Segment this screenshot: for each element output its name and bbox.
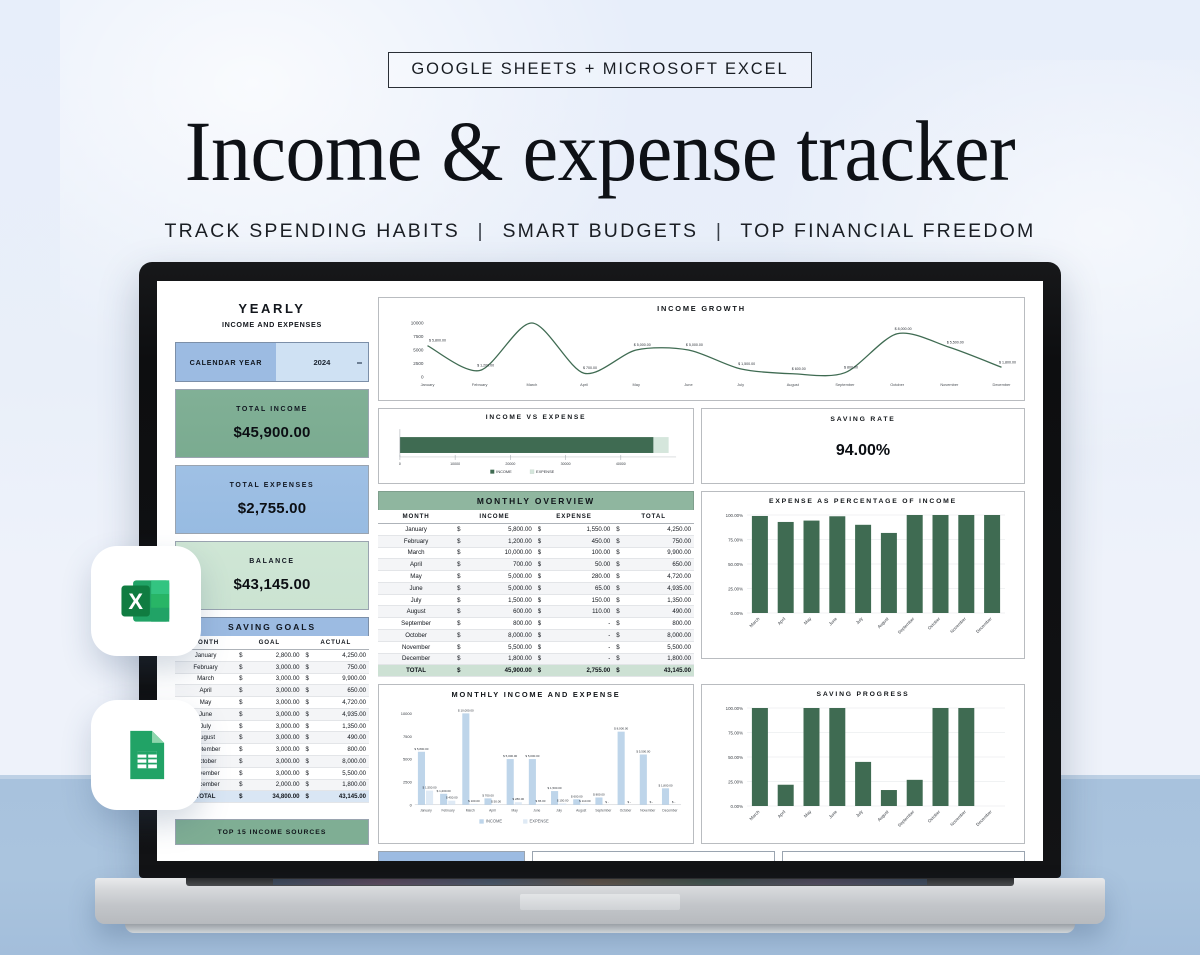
table-cell: $ — [236, 697, 244, 709]
kpi-total-income-value: $45,900.00 — [233, 424, 310, 441]
table-row: August$3,000.00$490.00 — [175, 732, 369, 744]
chart-text: January — [420, 809, 432, 813]
chart-income-vs-expense: INCOME VS EXPENSE 010000200003000040000I… — [378, 408, 694, 484]
chart-text: August — [876, 616, 890, 630]
table-row: February$1,200.00$450.00$750.00 — [378, 535, 694, 547]
panel-monthly-overview: MONTHLY OVERVIEW MONTH INCOME EXPENSE TO… — [378, 491, 694, 677]
bar-income — [640, 755, 647, 805]
chart-text: May — [512, 809, 519, 813]
table-cell: $ — [303, 650, 311, 662]
table-cell: $ — [535, 606, 543, 618]
bar — [829, 708, 845, 806]
bar — [752, 708, 768, 806]
table-cell: 4,720.00 — [622, 571, 694, 583]
table-row: June$3,000.00$4,935.00 — [175, 708, 369, 720]
chart-text: $ 8,000.00 — [895, 327, 912, 331]
table-cell: $ — [303, 756, 311, 768]
table-header-row: MONTH GOAL ACTUAL — [175, 636, 369, 650]
chart-text: June — [828, 809, 839, 820]
table-cell: 1,800.00 — [311, 779, 369, 791]
table-cell: 5,000.00 — [463, 571, 535, 583]
saving-progress-plot: 0.00%25.00%50.00%75.00%100.00%MarchApril… — [710, 698, 1016, 838]
chart-text: 10000 — [401, 711, 413, 716]
col-actual: ACTUAL — [303, 636, 369, 650]
chart-text: May — [803, 616, 813, 626]
table-cell: July — [378, 594, 454, 606]
bar — [907, 780, 923, 806]
chart-text: $ 8,000.00 — [614, 727, 628, 731]
table-cell: $ — [236, 744, 244, 756]
table-cell: 8,000.00 — [311, 756, 369, 768]
table-cell: April — [378, 559, 454, 571]
table-cell: 3,000.00 — [244, 661, 302, 673]
table-cell: $ — [236, 779, 244, 791]
chart-monthly-income-expense: MONTHLY INCOME AND EXPENSE 0250050007500… — [378, 684, 694, 844]
subtitle-separator-1: | — [468, 220, 495, 242]
table-row: July$1,500.00$150.00$1,350.00 — [378, 594, 694, 606]
chart-text: 0 — [399, 462, 401, 466]
table-cell: $ — [613, 618, 621, 630]
monthly-overview-body: January$5,800.00$1,550.00$4,250.00Februa… — [378, 524, 694, 677]
bar-income — [462, 714, 469, 805]
chart-text: 40000 — [616, 462, 626, 466]
table-cell: $ — [535, 559, 543, 571]
chart-text: $ 5,800.00 — [414, 747, 428, 751]
chart-text: 0 — [410, 803, 413, 808]
bar-expense — [448, 801, 455, 805]
bar-income — [595, 798, 602, 805]
chart-text: $ 150.00 — [557, 799, 569, 803]
table-total-row: TOTAL$45,900.00$2,755.00$43,145.00 — [378, 665, 694, 677]
saving-rate-value: 94.00% — [836, 442, 890, 460]
dashboard-row-1: INCOME GROWTH 025005000750010000JanuaryF… — [378, 297, 1025, 401]
table-cell: December — [378, 653, 454, 665]
table-cell: $ — [454, 641, 462, 653]
table-cell: 4,935.00 — [622, 582, 694, 594]
chart-text: 7500 — [413, 334, 424, 339]
table-cell: 2,800.00 — [244, 650, 302, 662]
table-cell: 65.00 — [543, 582, 613, 594]
bar-income — [662, 788, 669, 804]
table-cell: $ — [303, 767, 311, 779]
chart-text: 30000 — [561, 462, 571, 466]
table-cell: 1,550.00 — [543, 524, 613, 536]
table-cell: $ — [303, 791, 311, 803]
table-cell: 5,000.00 — [463, 582, 535, 594]
yearly-subtitle: INCOME AND EXPENSES — [175, 320, 369, 329]
chart-text: $ 600.00 — [792, 367, 806, 371]
table-cell: $ — [613, 653, 621, 665]
chart-text: $ 1,500.00 — [548, 786, 562, 790]
chart-expense-percentage-title: EXPENSE AS PERCENTAGE OF INCOME — [710, 498, 1016, 505]
calendar-year-text: 2024 — [313, 358, 330, 367]
chart-text: $ - — [672, 800, 675, 804]
table-cell: April — [175, 685, 236, 697]
chart-text: 0.00% — [731, 611, 744, 616]
bar-expense — [581, 804, 588, 805]
chart-text: December — [662, 809, 678, 813]
chart-text: March — [748, 616, 761, 629]
chart-text: $ - — [627, 800, 630, 804]
table-cell: $ — [535, 665, 543, 677]
bar — [804, 521, 820, 613]
yearly-title: YEARLY — [175, 297, 369, 316]
chart-text: November — [949, 809, 967, 827]
chart-text: December — [993, 382, 1012, 387]
col-month: MONTH — [378, 510, 454, 524]
bar — [829, 516, 845, 613]
chart-text: $ 5,000.00 — [503, 754, 517, 758]
table-cell: March — [378, 547, 454, 559]
kpi-total-income-label: TOTAL INCOME — [236, 406, 308, 413]
table-row: January$5,800.00$1,550.00$4,250.00 — [378, 524, 694, 536]
table-cell: 1,200.00 — [463, 535, 535, 547]
table-cell: 490.00 — [622, 606, 694, 618]
chart-text: July — [556, 809, 562, 813]
chart-text: April — [489, 809, 496, 813]
chart-text: April — [777, 809, 787, 819]
laptop-screen: YEARLY INCOME AND EXPENSES CALENDAR YEAR… — [157, 281, 1043, 861]
table-cell: 4,720.00 — [311, 697, 369, 709]
tab-income-breakdown[interactable]: INCOME BREAKDOWN — [532, 851, 775, 861]
table-cell: $ — [454, 571, 462, 583]
chart-text: September — [897, 616, 916, 635]
table-cell: $ — [236, 685, 244, 697]
expense-percentage-plot: 0.00%25.00%50.00%75.00%100.00%MarchApril… — [710, 505, 1016, 653]
chart-text: EXPENSE — [536, 469, 555, 474]
table-row: October$8,000.00$-$8,000.00 — [378, 630, 694, 642]
table-cell: 490.00 — [311, 732, 369, 744]
table-cell: $ — [303, 697, 311, 709]
chart-expense-percentage: EXPENSE AS PERCENTAGE OF INCOME 0.00%25.… — [701, 491, 1025, 659]
microsoft-excel-icon[interactable]: X — [91, 546, 201, 656]
table-cell: 45,900.00 — [463, 665, 535, 677]
laptop-keyboard-shadow — [186, 878, 1014, 886]
table-cell: 3,000.00 — [244, 708, 302, 720]
table-header-row: MONTH INCOME EXPENSE TOTAL — [378, 510, 694, 524]
table-cell: 4,935.00 — [311, 708, 369, 720]
table-cell: $ — [454, 653, 462, 665]
chart-text: December — [975, 809, 993, 827]
chart-text: $ 10,000.00 — [458, 709, 474, 713]
chart-text: June — [828, 616, 839, 627]
chart-text: April — [777, 616, 787, 626]
legend-swatch-expense — [523, 819, 527, 823]
tab-top-15-income-sources-label: TOP 15 INCOME SOURCES — [218, 829, 327, 836]
chart-text: $ 700.00 — [482, 794, 494, 798]
table-cell: 1,500.00 — [463, 594, 535, 606]
laptop-lid: YEARLY INCOME AND EXPENSES CALENDAR YEAR… — [139, 262, 1061, 878]
table-row: May$3,000.00$4,720.00 — [175, 697, 369, 709]
chart-text: 25.00% — [728, 779, 743, 784]
chart-text: 50.00% — [728, 755, 743, 760]
table-cell: $ — [535, 535, 543, 547]
chart-text: $ - — [605, 800, 608, 804]
table-cell: - — [543, 653, 613, 665]
table-row: November$5,500.00$-$5,500.00 — [378, 641, 694, 653]
tab-top-15-expense-sources[interactable]: TOP 15 EXPENSE SOURCES — [378, 851, 525, 861]
table-cell: January — [378, 524, 454, 536]
col-expense: EXPENSE — [535, 510, 613, 524]
bar — [778, 522, 794, 613]
yearly-heading-block: YEARLY INCOME AND EXPENSES — [175, 297, 369, 335]
dashboard-row-2: INCOME VS EXPENSE 010000200003000040000I… — [378, 408, 1025, 484]
bar-income — [400, 437, 654, 453]
chart-text: $ 800.00 — [844, 366, 858, 370]
table-cell: 800.00 — [463, 618, 535, 630]
chart-text: December — [975, 616, 993, 634]
table-cell: $ — [454, 547, 462, 559]
dashboard-row-4: MONTHLY INCOME AND EXPENSE 0250050007500… — [378, 684, 1025, 844]
calendar-year-selector[interactable]: CALENDAR YEAR 2024 — [175, 342, 369, 382]
kpi-total-expenses-value: $2,755.00 — [238, 500, 307, 517]
table-cell: $ — [454, 535, 462, 547]
table-cell: 280.00 — [543, 571, 613, 583]
chart-text: February — [472, 382, 488, 387]
bar — [752, 516, 768, 613]
chart-text: 5000 — [403, 757, 413, 762]
calendar-year-value[interactable]: 2024 — [276, 343, 368, 381]
chart-text: August — [787, 382, 800, 387]
bar-expense — [653, 437, 668, 453]
table-cell: $ — [613, 594, 621, 606]
bar — [984, 515, 1000, 613]
chart-text: June — [684, 382, 692, 387]
table-row: September$3,000.00$800.00 — [175, 744, 369, 756]
table-cell: $ — [535, 524, 543, 536]
bar-income — [618, 732, 625, 805]
table-cell: $ — [535, 547, 543, 559]
table-cell: $ — [236, 767, 244, 779]
dashboard-right-column: INCOME GROWTH 025005000750010000JanuaryF… — [378, 297, 1025, 845]
dashboard-row-3: MONTHLY OVERVIEW MONTH INCOME EXPENSE TO… — [378, 491, 1025, 677]
chart-text: March — [748, 809, 761, 822]
tab-expense-breakdown[interactable]: EXPENSE BREAKDOWN — [782, 851, 1025, 861]
table-cell: 150.00 — [543, 594, 613, 606]
col-goal: GOAL — [236, 636, 302, 650]
chart-text: 10000 — [411, 321, 424, 326]
chart-text: INCOME — [496, 469, 512, 474]
table-cell: $ — [454, 618, 462, 630]
subtitle-part-3: TOP FINANCIAL FREEDOM — [740, 220, 1035, 242]
table-cell: $ — [613, 641, 621, 653]
chart-text: $ 5,500.00 — [947, 340, 964, 344]
chart-text: EXPENSE — [530, 819, 549, 824]
chart-text: November — [640, 809, 656, 813]
table-cell: 800.00 — [622, 618, 694, 630]
monthly-overview-title: MONTHLY OVERVIEW — [378, 491, 694, 510]
table-cell: $ — [613, 630, 621, 642]
table-cell: $ — [454, 606, 462, 618]
chart-text: $ 800.00 — [593, 793, 605, 797]
table-row: July$3,000.00$1,350.00 — [175, 720, 369, 732]
chart-text: August — [576, 809, 586, 813]
bar-expense — [559, 804, 566, 805]
table-cell: 2,000.00 — [244, 779, 302, 791]
bar — [855, 525, 871, 613]
table-cell: August — [378, 606, 454, 618]
kpi-balance-label: BALANCE — [249, 558, 294, 565]
chart-text: $ 5,000.00 — [686, 343, 703, 347]
kpi-total-expenses: TOTAL EXPENSES $2,755.00 — [175, 465, 369, 534]
table-row: December$2,000.00$1,800.00 — [175, 779, 369, 791]
bar-income — [418, 752, 425, 805]
table-cell: February — [175, 661, 236, 673]
saving-goals-body: January$2,800.00$4,250.00February$3,000.… — [175, 650, 369, 803]
card-saving-rate: SAVING RATE 94.00% — [701, 408, 1025, 484]
saving-goals-title: SAVING GOALS — [175, 617, 369, 636]
bar-income — [529, 759, 536, 805]
table-cell: 4,250.00 — [311, 650, 369, 662]
table-cell: $ — [613, 571, 621, 583]
table-cell: $ — [454, 630, 462, 642]
laptop-base — [95, 878, 1105, 924]
table-cell: 5,500.00 — [463, 641, 535, 653]
table-cell: $ — [236, 720, 244, 732]
chevron-down-icon — [357, 362, 362, 364]
table-cell: 50.00 — [543, 559, 613, 571]
table-cell: 3,000.00 — [244, 673, 302, 685]
legend-swatch-income — [490, 470, 494, 474]
table-cell: 4,250.00 — [622, 524, 694, 536]
chart-text: 75.00% — [728, 730, 743, 735]
income-growth-line — [428, 323, 1002, 376]
bar — [933, 708, 949, 806]
chart-text: $ 5,800.00 — [429, 339, 446, 343]
table-cell: 5,500.00 — [622, 641, 694, 653]
table-row: August$600.00$110.00$490.00 — [378, 606, 694, 618]
excel-glyph: X — [115, 570, 177, 632]
chart-income-growth: INCOME GROWTH 025005000750010000JanuaryF… — [378, 297, 1025, 401]
col-total: TOTAL — [613, 510, 694, 524]
svg-text:X: X — [128, 589, 143, 614]
chart-text: March — [526, 382, 537, 387]
laptop-mockup: YEARLY INCOME AND EXPENSES CALENDAR YEAR… — [139, 262, 1061, 924]
table-cell: $ — [236, 661, 244, 673]
calendar-year-label: CALENDAR YEAR — [176, 343, 276, 381]
chart-saving-progress: SAVING PROGRESS 0.00%25.00%50.00%75.00%1… — [701, 684, 1025, 844]
table-cell: 110.00 — [543, 606, 613, 618]
table-cell: 650.00 — [622, 559, 694, 571]
chart-text: September — [595, 809, 612, 813]
bar-expense — [426, 791, 433, 805]
chart-text: 0.00% — [731, 804, 744, 809]
subtitle-separator-2: | — [706, 220, 733, 242]
table-row: December$1,800.00$-$1,800.00 — [378, 653, 694, 665]
chart-text: February — [442, 809, 455, 813]
bar — [881, 533, 897, 613]
table-cell: $ — [303, 661, 311, 673]
monthly-overview-table: MONTH INCOME EXPENSE TOTAL January$5,800… — [378, 510, 694, 677]
table-cell: $ — [303, 779, 311, 791]
chart-text: July — [855, 616, 865, 626]
table-cell: $ — [303, 685, 311, 697]
chart-text: May — [803, 809, 813, 819]
table-cell: 2,755.00 — [543, 665, 613, 677]
table-cell: 800.00 — [311, 744, 369, 756]
table-cell: 5,500.00 — [311, 767, 369, 779]
table-row: June$5,000.00$65.00$4,935.00 — [378, 582, 694, 594]
chart-text: 25.00% — [728, 586, 743, 591]
table-cell: $ — [303, 708, 311, 720]
table-cell: $ — [236, 708, 244, 720]
table-cell: 9,900.00 — [622, 547, 694, 559]
chart-text: 50.00% — [728, 562, 743, 567]
table-cell: 450.00 — [543, 535, 613, 547]
bar — [855, 762, 871, 806]
platform-badge: GOOGLE SHEETS + MICROSOFT EXCEL — [388, 52, 811, 88]
laptop-trackpad — [520, 894, 680, 910]
table-cell: $ — [613, 582, 621, 594]
monthly-income-expense-plot: 025005000750010000$ 5,800.00$ 1,200.00$ … — [385, 699, 687, 841]
dashboard-row-5: TOP 15 EXPENSE SOURCES INCOME BREAKDOWN … — [378, 851, 1025, 861]
table-row: February$3,000.00$750.00 — [175, 661, 369, 673]
table-cell: TOTAL — [378, 665, 454, 677]
table-cell: 1,350.00 — [622, 594, 694, 606]
table-cell: May — [378, 571, 454, 583]
table-cell: 8,000.00 — [622, 630, 694, 642]
chart-text: October — [620, 809, 633, 813]
table-row: November$3,000.00$5,500.00 — [175, 767, 369, 779]
kpi-balance-value: $43,145.00 — [233, 576, 310, 593]
table-cell: 9,900.00 — [311, 673, 369, 685]
chart-text: October — [927, 616, 942, 631]
chart-text: $ 450.00 — [446, 796, 458, 800]
table-cell: $ — [303, 720, 311, 732]
table-cell: $ — [535, 594, 543, 606]
chart-text: $ 1,500.00 — [738, 362, 755, 366]
legend-swatch-expense — [530, 470, 534, 474]
bar — [958, 708, 974, 806]
chart-text: 2500 — [413, 361, 424, 366]
google-sheets-icon[interactable] — [91, 700, 201, 810]
table-cell: 700.00 — [463, 559, 535, 571]
table-cell: 100.00 — [543, 547, 613, 559]
col-income: INCOME — [454, 510, 535, 524]
page-title: Income & expense tracker — [42, 108, 1158, 194]
tab-top-15-income-sources[interactable]: TOP 15 INCOME SOURCES — [175, 819, 369, 845]
table-row: March$10,000.00$100.00$9,900.00 — [378, 547, 694, 559]
chart-text: $ 110.00 — [579, 799, 591, 803]
chart-text: $ 5,000.00 — [525, 754, 539, 758]
legend-swatch-income — [479, 819, 483, 823]
chart-text: 2500 — [403, 780, 413, 785]
income-vs-expense-plot: 010000200003000040000INCOMEEXPENSE — [386, 421, 686, 479]
table-cell: June — [378, 582, 454, 594]
table-cell: 3,000.00 — [244, 744, 302, 756]
table-cell: 600.00 — [463, 606, 535, 618]
table-cell: $ — [613, 559, 621, 571]
table-cell: 3,000.00 — [244, 720, 302, 732]
table-cell: $ — [535, 653, 543, 665]
table-cell: $ — [454, 594, 462, 606]
sheets-glyph — [117, 726, 175, 784]
bar — [804, 708, 820, 806]
table-cell: $ — [236, 673, 244, 685]
table-cell: 3,000.00 — [244, 732, 302, 744]
chart-text: October — [890, 382, 905, 387]
chart-text: $ 700.00 — [583, 366, 597, 370]
saving-goals-table: MONTH GOAL ACTUAL January$2,800.00$4,250… — [175, 636, 369, 803]
chart-saving-progress-title: SAVING PROGRESS — [710, 691, 1016, 698]
table-cell: $ — [303, 673, 311, 685]
chart-text: March — [466, 809, 475, 813]
table-cell: November — [378, 641, 454, 653]
table-total-row: TOTAL$34,800.00$43,145.00 — [175, 791, 369, 803]
chart-text: January — [421, 382, 435, 387]
table-cell: $ — [303, 744, 311, 756]
table-cell: 5,800.00 — [463, 524, 535, 536]
